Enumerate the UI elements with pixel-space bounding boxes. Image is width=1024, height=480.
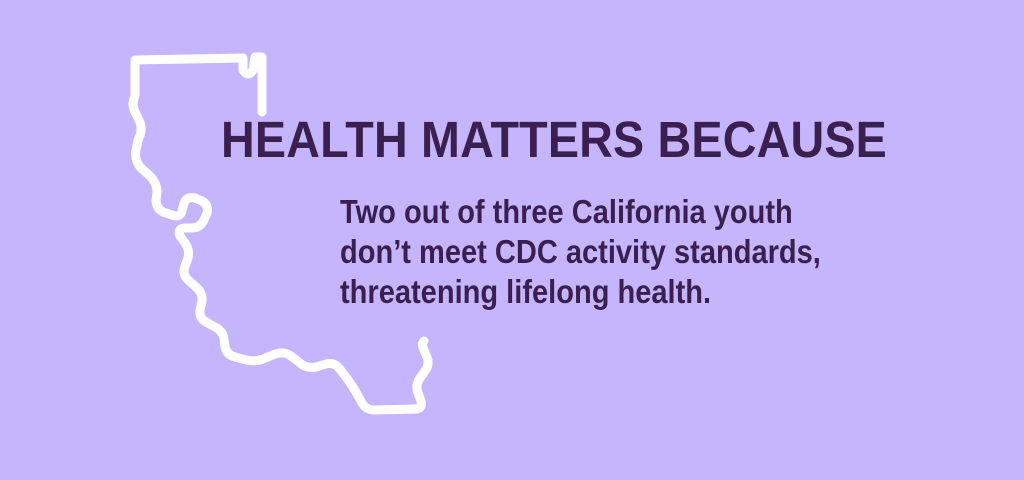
body-line-1: Two out of three California youth	[340, 192, 821, 232]
body-line-3: threatening lifelong health.	[340, 272, 821, 312]
page-title: HEALTH MATTERS BECAUSE	[221, 113, 887, 167]
health-campaign-poster: HEALTH MATTERS BECAUSE Two out of three …	[0, 0, 1024, 480]
poster-text-block: HEALTH MATTERS BECAUSE Two out of three …	[0, 0, 1024, 480]
body-line-2: don’t meet CDC activity standards,	[340, 232, 821, 272]
poster-body-copy: Two out of three California youth don’t …	[340, 192, 821, 312]
